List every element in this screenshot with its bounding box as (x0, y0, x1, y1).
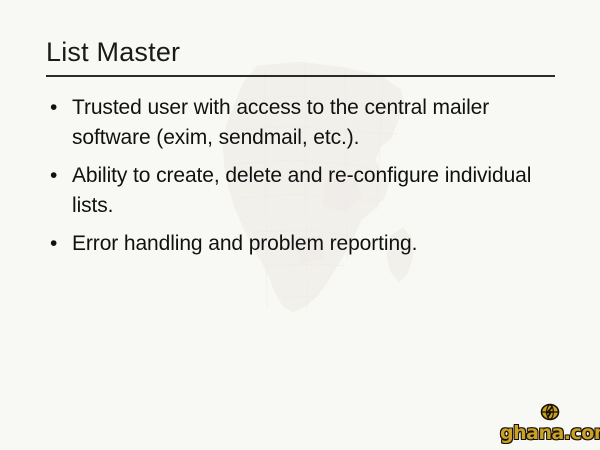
list-item: • Ability to create, delete and re-confi… (44, 161, 564, 221)
page-title-block: List Master (46, 36, 556, 68)
slide-canvas: List Master • Trusted user with access t… (0, 0, 600, 450)
bullet-dot-icon: • (50, 161, 57, 191)
bullet-dot-icon: • (50, 229, 57, 259)
list-item-text: Trusted user with access to the central … (72, 93, 564, 153)
ghana-com-logo: ghana.com (500, 402, 600, 446)
title-divider (46, 75, 555, 77)
list-item-text: Error handling and problem reporting. (72, 229, 564, 259)
bullet-list: • Trusted user with access to the centra… (44, 93, 564, 267)
list-item: • Error handling and problem reporting. (44, 229, 564, 259)
bullet-dot-icon: • (50, 93, 57, 123)
page-title: List Master (46, 36, 556, 68)
list-item-text: Ability to create, delete and re-configu… (72, 161, 564, 221)
globe-emblem-icon (539, 402, 561, 422)
logo-wordmark: ghana.com (500, 423, 600, 443)
list-item: • Trusted user with access to the centra… (44, 93, 564, 153)
